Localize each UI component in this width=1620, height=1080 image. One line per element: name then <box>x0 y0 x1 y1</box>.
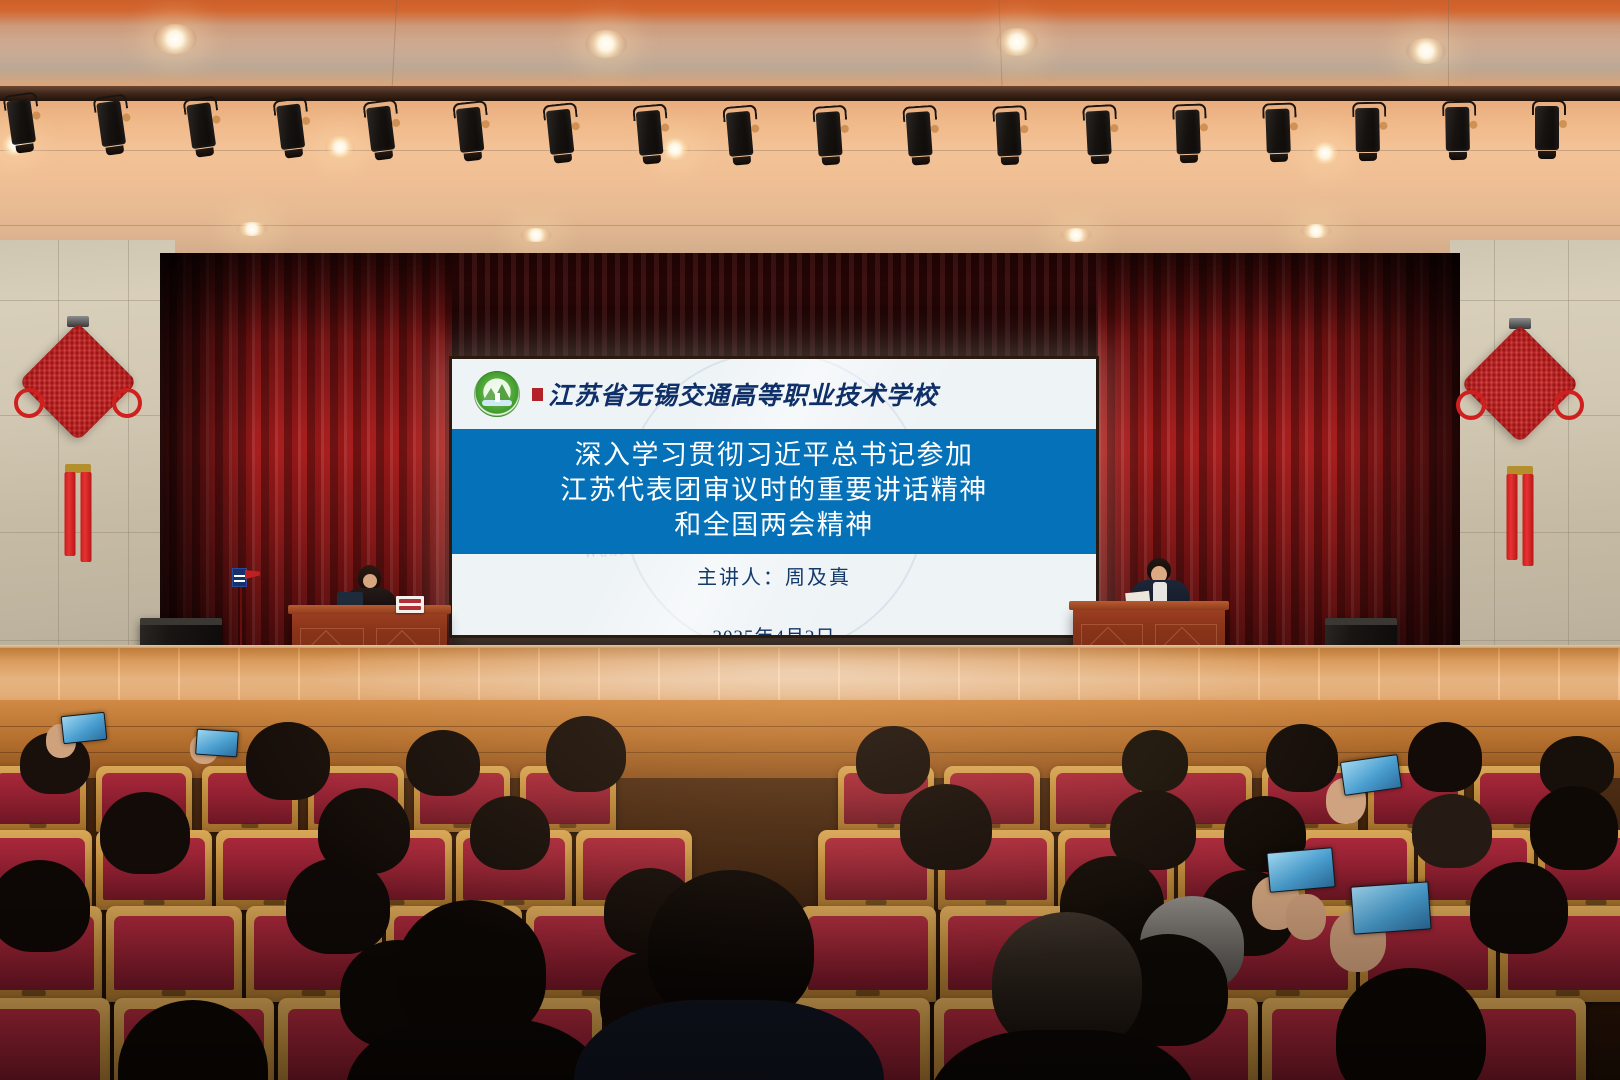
stage-light-fixture <box>272 95 309 156</box>
audience-head <box>100 792 190 874</box>
knot-loop <box>1554 390 1584 420</box>
audience-seat <box>0 998 110 1080</box>
slide-presenter: 主讲人：周及真 <box>452 561 1096 590</box>
knot-tassel <box>81 472 92 562</box>
audience-phone <box>195 729 239 758</box>
presentation-slide: Wuxi institute of communications technol… <box>452 359 1096 635</box>
ceiling-downlight <box>236 222 268 236</box>
stage-light-fixture <box>1082 102 1115 161</box>
audience-phone <box>61 712 108 744</box>
ceiling-downlight <box>1300 224 1332 238</box>
projection-screen: Wuxi institute of communications technol… <box>449 356 1099 638</box>
ceiling-downlight <box>1060 228 1092 242</box>
ceiling-seam <box>1448 0 1449 86</box>
stage-curtain-left <box>160 253 452 653</box>
lighting-truss-bar <box>0 86 1620 101</box>
school-emblem-icon <box>474 371 520 417</box>
audience-head <box>546 716 626 792</box>
knot-loop <box>112 388 142 418</box>
knot-tassel <box>1523 474 1534 566</box>
slide-title-line-1: 深入学习贯彻习近平总书记参加 <box>452 438 1096 473</box>
ceiling-downlight <box>996 28 1038 56</box>
audience-head <box>406 730 480 796</box>
wall-tile-line <box>1450 640 1620 641</box>
podium-sign <box>232 568 247 587</box>
stage-light-fixture <box>992 103 1025 162</box>
stage-light-fixture <box>362 97 399 158</box>
stage-light-fixture <box>632 102 667 162</box>
school-name: 江苏省无锡交通高等职业技术学校 <box>532 376 938 412</box>
audience-head <box>1470 862 1568 954</box>
audience-head <box>0 860 90 952</box>
nameplate-left <box>396 596 424 613</box>
knot-loop <box>14 388 44 418</box>
ceiling-downlight <box>325 136 355 158</box>
stage-light-fixture <box>1172 101 1204 160</box>
ceiling-downlight <box>520 228 552 242</box>
knot-tassel <box>65 472 76 556</box>
stage-light-fixture <box>1442 99 1473 158</box>
stage-light-fixture <box>722 103 757 163</box>
chinese-knot-right <box>1452 318 1588 586</box>
ceiling-downlight <box>1310 142 1340 164</box>
stage-light-fixture <box>1352 100 1383 159</box>
stage-light-fixture <box>1262 100 1294 159</box>
audience-area <box>0 700 1620 1080</box>
audience-head <box>470 796 550 870</box>
auditorium-photo: Wuxi institute of communications technol… <box>0 0 1620 1080</box>
wall-tile-line <box>1450 300 1620 301</box>
audience-head <box>1412 794 1492 868</box>
stage-light-fixture <box>452 98 488 159</box>
audience-head <box>246 722 330 800</box>
slide-header: 江苏省无锡交通高等职业技术学校 <box>452 359 1096 429</box>
knot-loop <box>1456 390 1486 420</box>
school-name-text: 江苏省无锡交通高等职业技术学校 <box>548 383 938 410</box>
audience-seat <box>800 906 936 1002</box>
ceiling-downlight <box>153 24 197 54</box>
audience-head <box>1408 722 1482 792</box>
stage-light-fixture <box>542 100 578 161</box>
stage-person-left-face <box>363 574 377 588</box>
audience-head <box>856 726 930 794</box>
audience-head <box>1530 786 1618 870</box>
slide-title-band: 深入学习贯彻习近平总书记参加 江苏代表团审议时的重要讲话精神 和全国两会精神 <box>452 429 1096 554</box>
slide-title-line-2: 江苏代表团审议时的重要讲话精神 <box>452 473 1096 508</box>
audience-head <box>900 784 992 870</box>
stage-light-fixture <box>812 103 846 163</box>
seal-icon <box>532 388 543 401</box>
slide-title-line-3: 和全国两会精神 <box>452 508 1096 543</box>
knot-body <box>19 323 138 442</box>
audience-phone <box>1350 881 1431 934</box>
audience-phone <box>1266 847 1335 893</box>
ceiling-downlight <box>1406 38 1446 64</box>
knot-body <box>1461 325 1580 444</box>
audience-head <box>286 858 390 954</box>
audience-head <box>1122 730 1188 792</box>
audience-head <box>1266 724 1338 792</box>
audience-hand <box>1286 894 1326 940</box>
desk-top-edge <box>288 605 451 614</box>
desk-top-edge <box>1069 601 1229 610</box>
slide-date: 2025年4月2日 <box>452 622 1096 635</box>
chinese-knot-left <box>10 316 146 584</box>
audience-seat <box>106 906 242 1002</box>
stage-light-fixture <box>1532 98 1562 156</box>
wall-tile-line <box>0 300 175 301</box>
knot-tassel <box>1507 474 1518 560</box>
ceiling-downlight <box>585 30 627 58</box>
stage-light-fixture <box>902 103 936 163</box>
